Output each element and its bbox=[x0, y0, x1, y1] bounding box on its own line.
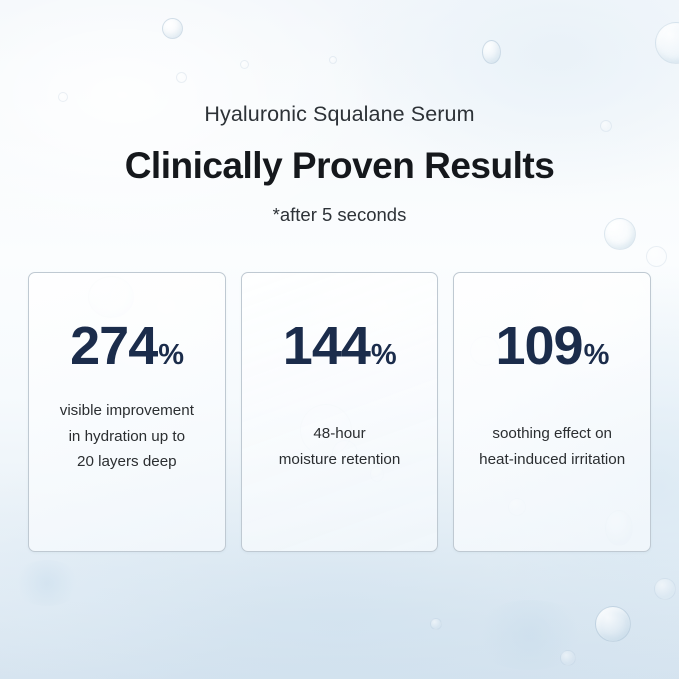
stat-card: 274% visible improvement in hydration up… bbox=[28, 272, 226, 552]
stat-number: 109 bbox=[495, 319, 582, 373]
stat-card-group: 274% visible improvement in hydration up… bbox=[28, 272, 651, 552]
stat-number: 144 bbox=[283, 319, 370, 373]
stat-description-line: 48-hour bbox=[279, 421, 401, 447]
bubble-smudge bbox=[12, 560, 82, 606]
product-name: Hyaluronic Squalane Serum bbox=[0, 0, 679, 126]
stat-unit: % bbox=[158, 341, 183, 370]
card-glow bbox=[242, 273, 438, 551]
bubble-icon bbox=[654, 578, 676, 600]
stat-description-line: visible improvement bbox=[60, 398, 194, 424]
stat-description-line: soothing effect on bbox=[479, 421, 625, 447]
bubble-smudge bbox=[470, 600, 590, 670]
bubble-icon bbox=[430, 618, 442, 630]
infographic-canvas: Hyaluronic Squalane Serum Clinically Pro… bbox=[0, 0, 679, 679]
stat-unit: % bbox=[371, 341, 396, 370]
stat-card: 144% 48-hour moisture retention bbox=[241, 272, 439, 552]
stat-description-line: 20 layers deep bbox=[60, 449, 194, 475]
stat-value: 274% bbox=[70, 319, 183, 373]
stat-value: 144% bbox=[283, 319, 396, 373]
stat-number: 274 bbox=[70, 319, 157, 373]
bubble-icon bbox=[646, 246, 667, 267]
header: Hyaluronic Squalane Serum Clinically Pro… bbox=[0, 0, 679, 224]
stat-description-line: heat-induced irritation bbox=[479, 447, 625, 473]
bubble-icon bbox=[560, 650, 576, 666]
stat-description: soothing effect on heat-induced irritati… bbox=[471, 421, 633, 472]
stat-unit: % bbox=[584, 341, 609, 370]
footnote: *after 5 seconds bbox=[0, 184, 679, 225]
stat-value: 109% bbox=[495, 319, 608, 373]
stat-card: 109% soothing effect on heat-induced irr… bbox=[453, 272, 651, 552]
page-title: Clinically Proven Results bbox=[0, 126, 679, 184]
bubble-icon bbox=[595, 606, 631, 642]
stat-description: visible improvement in hydration up to 2… bbox=[52, 398, 202, 475]
card-glow bbox=[454, 273, 650, 551]
stat-description-line: in hydration up to bbox=[60, 424, 194, 450]
stat-description: 48-hour moisture retention bbox=[271, 421, 409, 472]
stat-description-line: moisture retention bbox=[279, 447, 401, 473]
